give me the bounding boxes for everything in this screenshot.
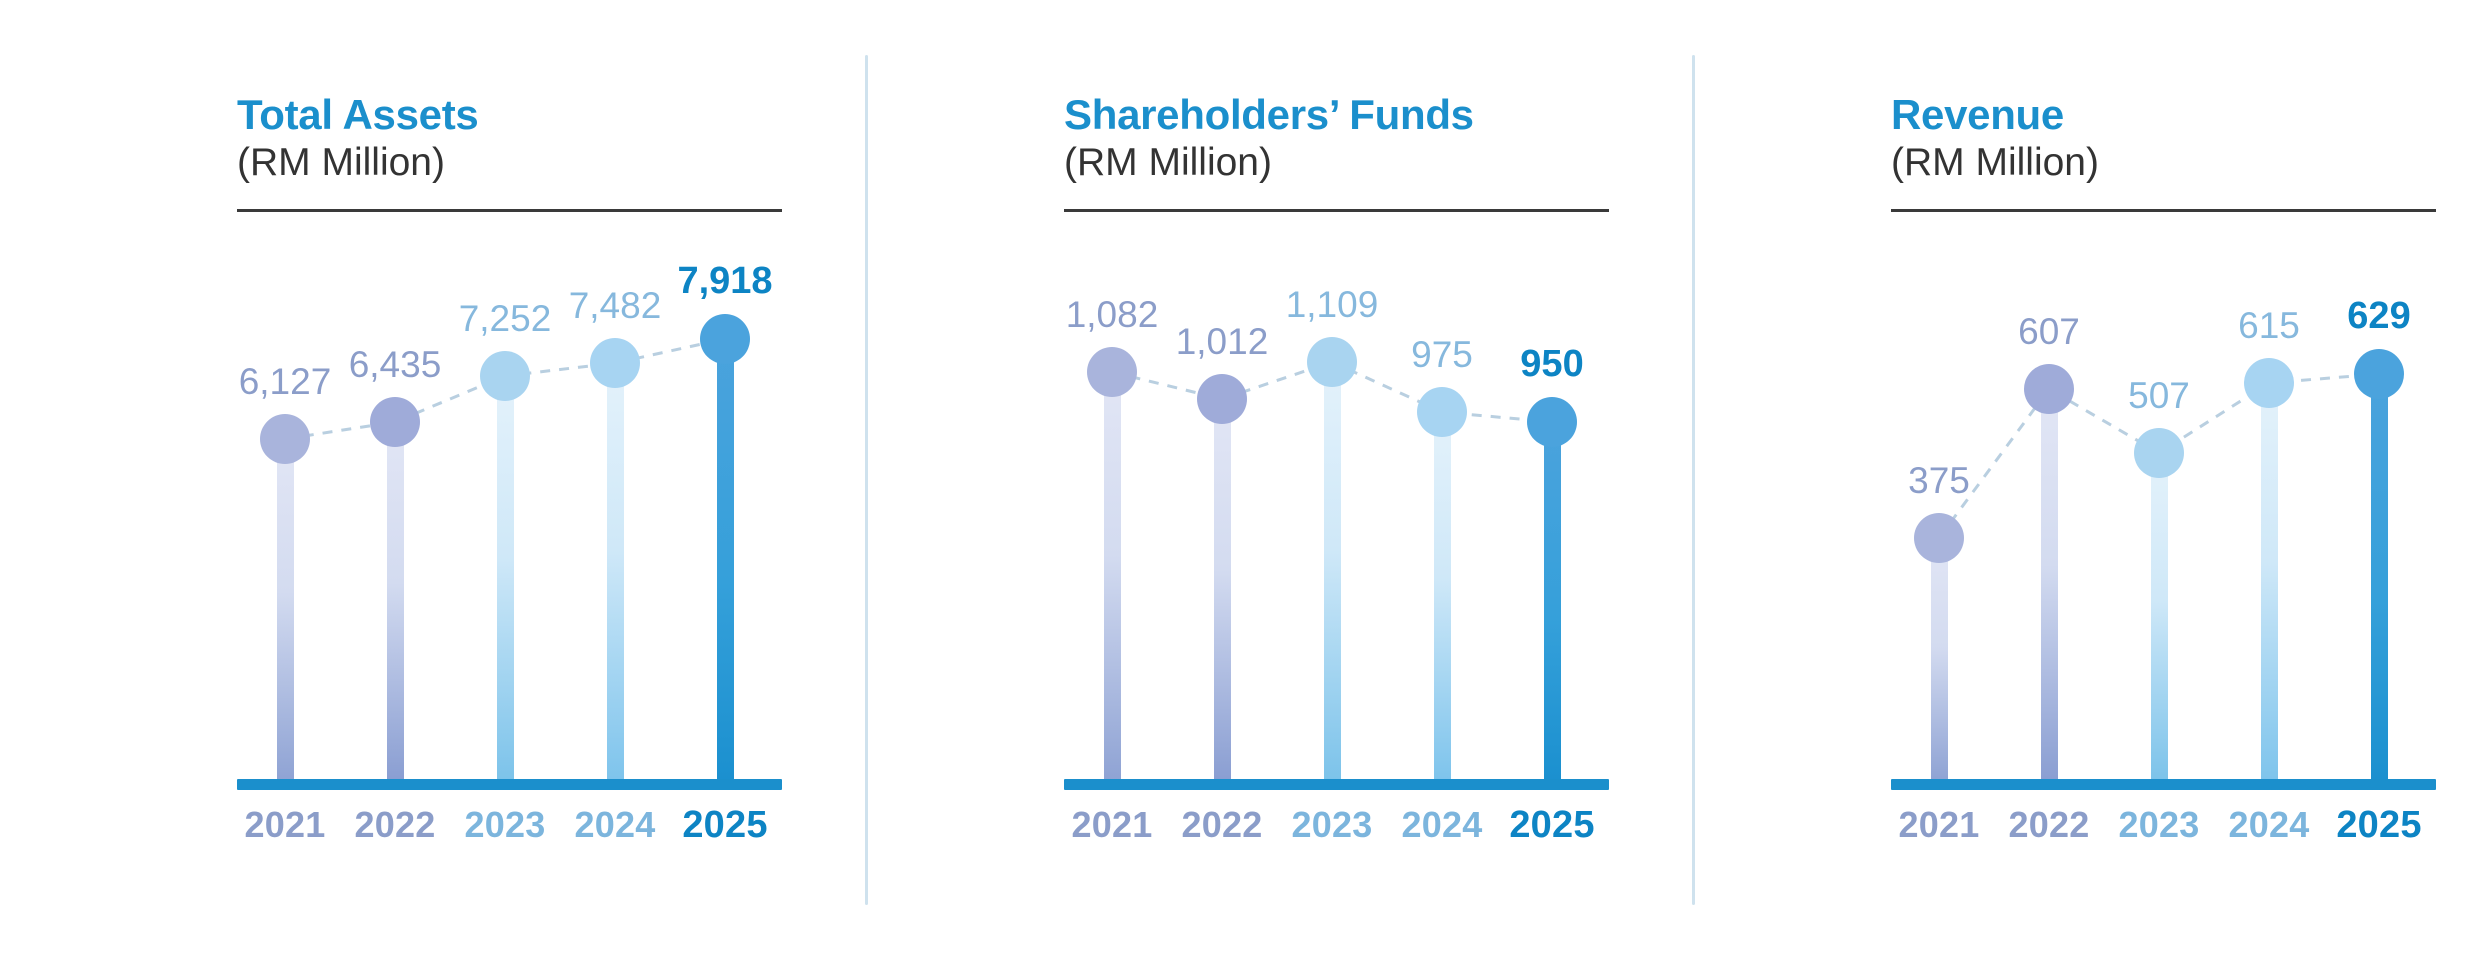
bar-stem	[387, 422, 404, 780]
x-axis-labels: 20212022202320242025	[0, 804, 827, 854]
bar-dot[interactable]	[1417, 387, 1467, 437]
bar-dot[interactable]	[2134, 428, 2184, 478]
bar-stem	[2371, 374, 2388, 780]
bar-dot[interactable]	[1197, 374, 1247, 424]
chart-panel: Total Assets(RM Million)6,1276,4357,2527…	[0, 0, 827, 962]
dashboard-root: Total Assets(RM Million)6,1276,4357,2527…	[0, 0, 2481, 962]
bar-stem	[717, 339, 734, 780]
bar-dot[interactable]	[1914, 513, 1964, 563]
x-axis-labels: 20212022202320242025	[827, 804, 1654, 854]
value-label: 629	[2249, 295, 2481, 338]
axis-baseline	[1064, 779, 1609, 790]
value-label: 375	[1809, 460, 2069, 502]
bar-stem	[2041, 389, 2058, 780]
bar-stem	[1324, 362, 1341, 780]
bar-stem	[1434, 412, 1451, 780]
bar-dot[interactable]	[590, 338, 640, 388]
x-axis-label-2025[interactable]: 2025	[2279, 804, 2479, 847]
chart-plot: 37560750761562920212022202320242025	[1654, 0, 2481, 962]
value-label: 1,109	[1202, 284, 1462, 326]
bar-stem	[277, 439, 294, 780]
axis-baseline	[1891, 779, 2436, 790]
bar-dot[interactable]	[1527, 397, 1577, 447]
bar-dot[interactable]	[2354, 349, 2404, 399]
x-axis-labels: 20212022202320242025	[1654, 804, 2481, 854]
plot-area: 1,0821,0121,109975950	[1064, 240, 1609, 780]
bar-stem	[1931, 538, 1948, 780]
chart-panel-inner: Revenue(RM Million)375607507615629202120…	[1654, 0, 2481, 962]
chart-panel: Revenue(RM Million)375607507615629202120…	[1654, 0, 2481, 962]
chart-panel-inner: Shareholders’ Funds(RM Million)1,0821,01…	[827, 0, 1654, 962]
bar-stem	[1104, 372, 1121, 780]
axis-baseline	[237, 779, 782, 790]
bar-dot[interactable]	[2244, 358, 2294, 408]
value-label: 950	[1422, 343, 1682, 386]
chart-plot: 1,0821,0121,1099759502021202220232024202…	[827, 0, 1654, 962]
chart-plot: 6,1276,4357,2527,4827,918202120222023202…	[0, 0, 827, 962]
x-axis-label-2025[interactable]: 2025	[1452, 804, 1652, 847]
bar-stem	[1544, 422, 1561, 780]
bar-stem	[1214, 399, 1231, 780]
value-label: 7,918	[595, 260, 855, 303]
bar-dot[interactable]	[260, 414, 310, 464]
bar-stem	[2151, 453, 2168, 780]
bar-dot[interactable]	[480, 351, 530, 401]
chart-panel: Shareholders’ Funds(RM Million)1,0821,01…	[827, 0, 1654, 962]
bar-dot[interactable]	[370, 397, 420, 447]
bar-stem	[607, 363, 624, 780]
chart-panel-inner: Total Assets(RM Million)6,1276,4357,2527…	[0, 0, 827, 962]
plot-area: 375607507615629	[1891, 240, 2436, 780]
bar-stem	[2261, 383, 2278, 780]
bar-dot[interactable]	[700, 314, 750, 364]
bar-stem	[497, 376, 514, 780]
plot-area: 6,1276,4357,2527,4827,918	[237, 240, 782, 780]
x-axis-label-2025[interactable]: 2025	[625, 804, 825, 847]
